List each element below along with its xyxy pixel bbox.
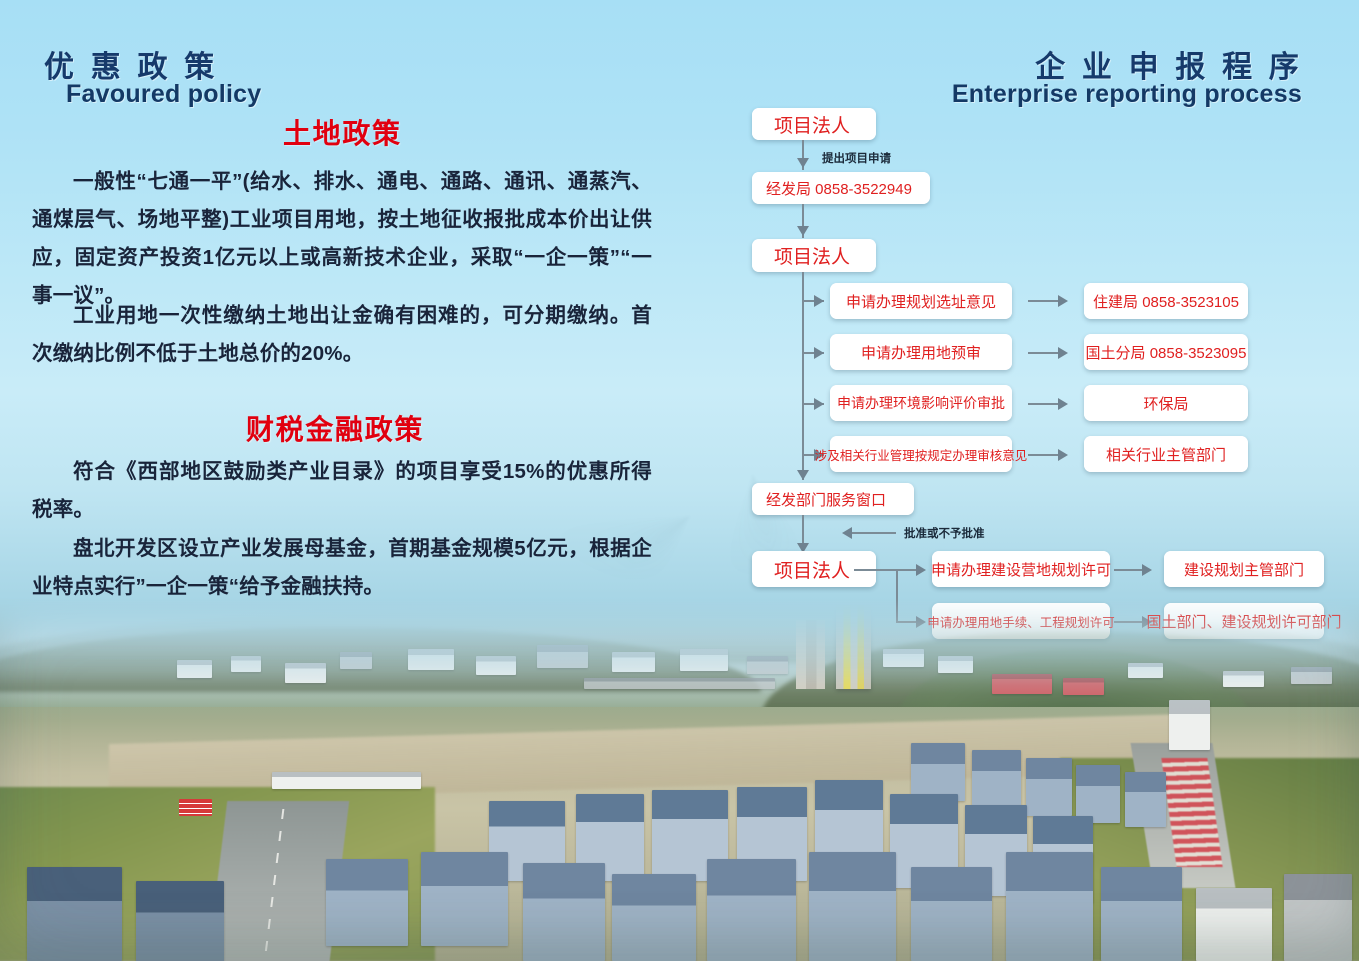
photo-vignette bbox=[0, 598, 1359, 961]
land-policy-heading: 土地政策 bbox=[283, 112, 402, 152]
flow-node-project-entity-2[interactable]: 项目法人 bbox=[752, 239, 876, 272]
flow-arrow-down-1-icon bbox=[797, 158, 809, 168]
flow-arrow-right-3-icon bbox=[814, 398, 824, 410]
flow-node-service-window[interactable]: 经发部门服务窗口 bbox=[752, 483, 914, 515]
flow-step-dept-4[interactable]: 相关行业主管部门 bbox=[1084, 436, 1248, 472]
enterprise-reporting-flowchart: 项目法人 提出项目申请 经发局 0858-3522949 项目法人 申请办理规划… bbox=[744, 100, 1344, 625]
flow-approve-line bbox=[852, 532, 896, 534]
flow-arrow-right-final-1-icon bbox=[916, 564, 926, 576]
poster-page: 优 惠 政 策 Favoured policy 土地政策 一般性“七通一平”(给… bbox=[0, 0, 1359, 961]
flow-step-action-2[interactable]: 申请办理用地预审 bbox=[830, 334, 1012, 370]
flow-step-dept-3[interactable]: 环保局 bbox=[1084, 385, 1248, 421]
flow-arrow-right-1-icon bbox=[814, 295, 824, 307]
flow-final-action-1[interactable]: 申请办理建设营地规划许可 bbox=[932, 551, 1110, 587]
flow-edge-label-submit-application: 提出项目申请 bbox=[822, 150, 891, 166]
flow-final-stem bbox=[854, 569, 898, 571]
flow-arrow-right-dept-1-icon bbox=[1058, 295, 1068, 307]
flow-spine bbox=[802, 272, 804, 480]
flow-arrow-right-final-dept-1-icon bbox=[1142, 564, 1152, 576]
flow-step-dept-1[interactable]: 住建局 0858-3523105 bbox=[1084, 283, 1248, 319]
land-policy-paragraph-2: 工业用地一次性缴纳土地出让金确有困难的，可分期缴纳。首次缴纳比例不低于土地总价的… bbox=[32, 297, 652, 373]
flow-arrow-right-dept-2-icon bbox=[1058, 347, 1068, 359]
flow-arrow-down-spine-icon bbox=[797, 470, 809, 480]
aerial-city-photo bbox=[0, 598, 1359, 961]
flow-node-economic-bureau[interactable]: 经发局 0858-3522949 bbox=[752, 172, 930, 204]
land-policy-paragraph-1: 一般性“七通一平”(给水、排水、通电、通路、通讯、通蒸汽、通煤层气、场地平整)工… bbox=[32, 163, 652, 315]
finance-policy-paragraph-2: 盘北开发区设立产业发展母基金，首期基金规模5亿元，根据企业特点实行”一企一策“给… bbox=[32, 530, 652, 606]
flow-edge-label-approve-or-reject: 批准或不予批准 bbox=[904, 525, 985, 541]
flow-step-action-1[interactable]: 申请办理规划选址意见 bbox=[830, 283, 1012, 319]
flow-arrow-right-dept-4-icon bbox=[1058, 449, 1068, 461]
flow-arrow-right-dept-3-icon bbox=[1058, 398, 1068, 410]
favoured-policy-title-en: Favoured policy bbox=[66, 80, 261, 109]
finance-policy-heading: 财税金融政策 bbox=[246, 408, 424, 448]
flow-arrow-down-2-icon bbox=[797, 226, 809, 236]
flow-final-dept-1[interactable]: 建设规划主管部门 bbox=[1164, 551, 1324, 587]
finance-policy-paragraph-1: 符合《西部地区鼓励类产业目录》的项目享受15%的优惠所得税率。 bbox=[32, 453, 652, 529]
flow-step-action-4[interactable]: 涉及相关行业管理按规定办理审核意见 bbox=[830, 436, 1012, 472]
flow-arrow-left-approve-icon bbox=[842, 527, 852, 539]
flow-step-dept-2[interactable]: 国土分局 0858-3523095 bbox=[1084, 334, 1248, 370]
flow-arrow-right-2-icon bbox=[814, 347, 824, 359]
flow-node-project-entity-1[interactable]: 项目法人 bbox=[752, 108, 876, 140]
flow-step-action-3[interactable]: 申请办理环境影响评价审批 bbox=[830, 385, 1012, 421]
